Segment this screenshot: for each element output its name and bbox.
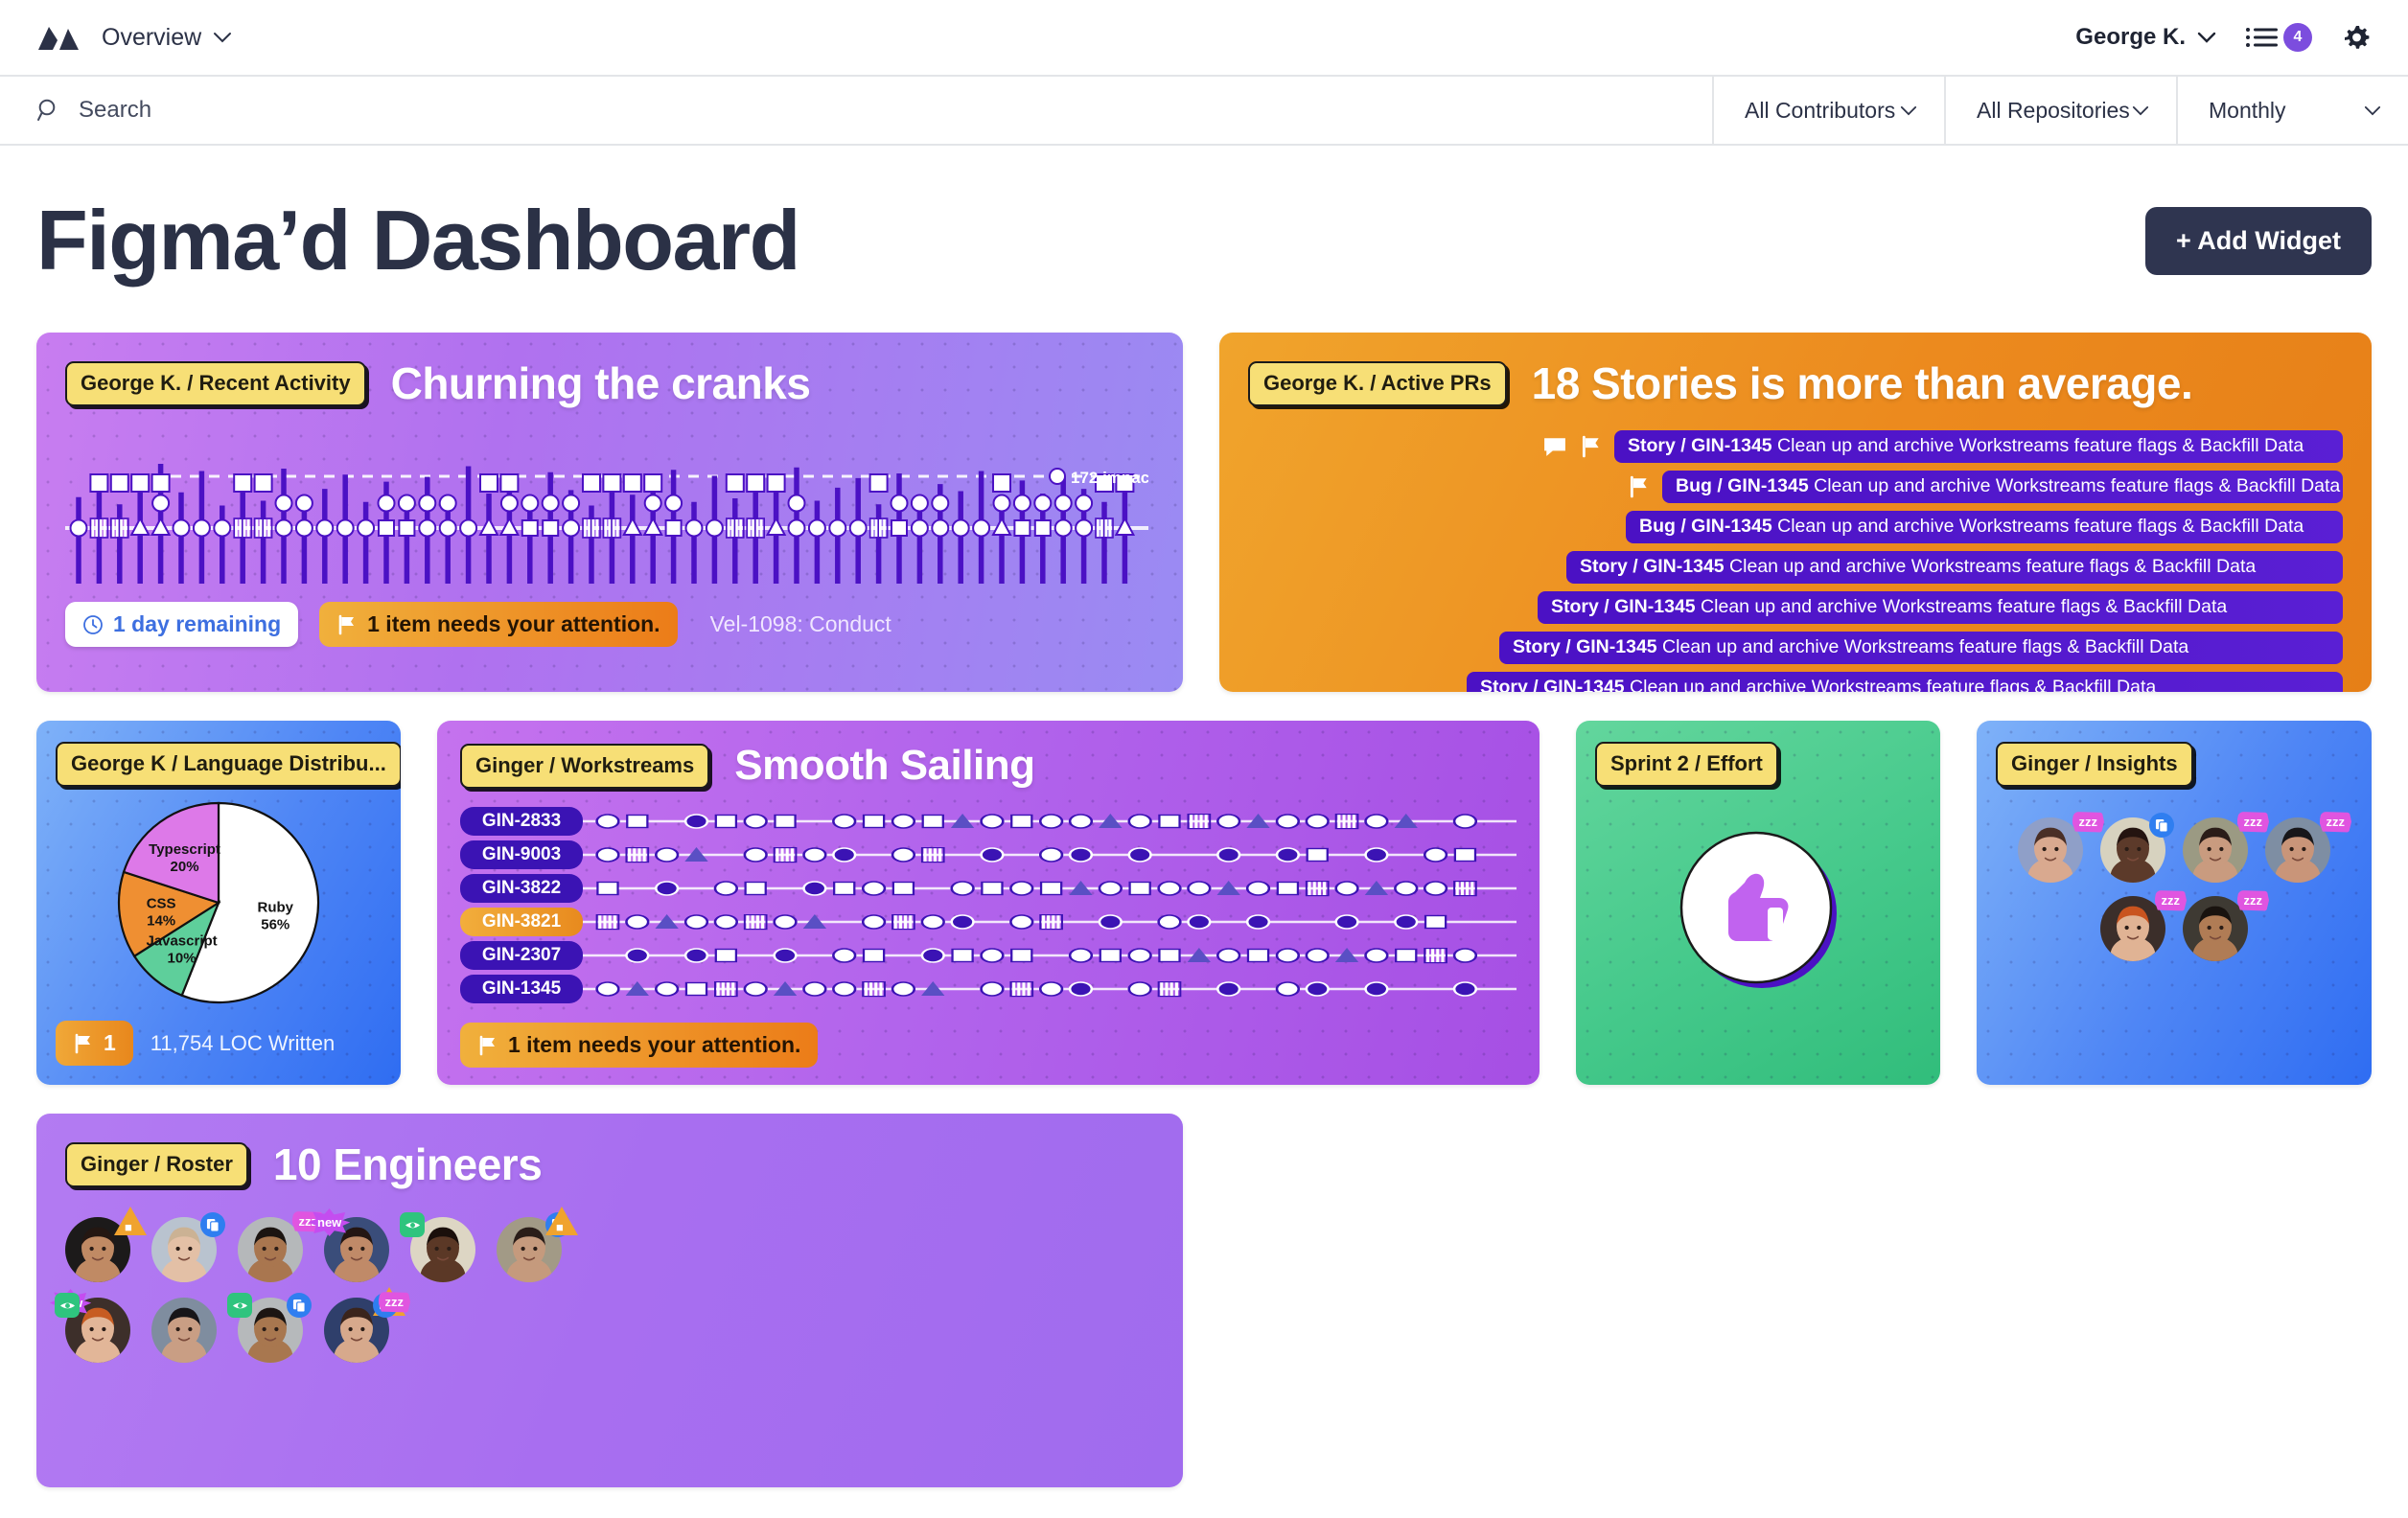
- search-input[interactable]: Search: [0, 77, 1712, 144]
- card-tag-sprint-effort[interactable]: Sprint 2 / Effort: [1595, 742, 1778, 787]
- avatar[interactable]: zzz: [2018, 817, 2083, 883]
- avatar[interactable]: zzz: [2100, 896, 2165, 961]
- card-tag-recent-activity[interactable]: George K. / Recent Activity: [65, 361, 366, 406]
- zzz-badge: zzz: [2155, 890, 2188, 911]
- pull-request-row[interactable]: Story / GIN-1345 Clean up and archive Wo…: [1248, 591, 2343, 624]
- svg-text:172 impact: 172 impact: [1071, 469, 1148, 487]
- avatar-image: [2100, 896, 2165, 961]
- activity-chart[interactable]: 172 impact: [65, 421, 1154, 588]
- loc-written-label: 11,754 LOC Written: [150, 1031, 335, 1056]
- chevron-down-icon: [1900, 105, 1917, 116]
- workstream-track: [583, 809, 1517, 834]
- filter-contributors[interactable]: All Contributors: [1712, 77, 1944, 144]
- avatar[interactable]: [2100, 817, 2165, 883]
- dashboard-row-1: George K. / Recent Activity Churning the…: [36, 333, 2372, 692]
- zzz-badge: zzz: [2320, 812, 2352, 833]
- svg-text:10%: 10%: [168, 950, 197, 966]
- card-recent-activity[interactable]: George K. / Recent Activity Churning the…: [36, 333, 1183, 692]
- roster-row: new ■zzz: [65, 1298, 1154, 1363]
- avatar-image: [238, 1217, 303, 1282]
- workstream-rows: GIN-2833 GIN-9003 GIN-3822 GIN-3821 GIN-…: [460, 809, 1517, 1001]
- pull-request-row[interactable]: Story / GIN-1345 Clean up and archive Wo…: [1248, 430, 2343, 463]
- workstream-markers: [583, 809, 1517, 834]
- pull-request-row[interactable]: Story / GIN-1345 Clean up and archive Wo…: [1248, 632, 2343, 664]
- chevron-down-icon: [2132, 105, 2149, 116]
- eye-icon[interactable]: [400, 1212, 425, 1237]
- flag-count-label: 1: [104, 1030, 116, 1056]
- card-sprint-effort[interactable]: Sprint 2 / Effort: [1576, 721, 1940, 1085]
- avatar[interactable]: [151, 1217, 217, 1282]
- pull-request-list: Story / GIN-1345 Clean up and archive Wo…: [1248, 430, 2343, 692]
- workstream-markers: [583, 909, 1517, 934]
- workstream-row[interactable]: GIN-1345: [460, 977, 1517, 1001]
- workstream-markers: [583, 943, 1517, 968]
- card-footer: 1 item needs your attention.: [460, 1023, 1517, 1068]
- card-footer: 1 11,754 LOC Written: [56, 1021, 382, 1066]
- activity-chart-svg: 172 impact: [65, 421, 1148, 588]
- card-tag-roster[interactable]: Ginger / Roster: [65, 1142, 248, 1187]
- language-pie-svg: Ruby56%Javascript10%CSS14%Typescript20%: [112, 796, 325, 1009]
- card-tag-language-distribution[interactable]: George K / Language Distribu...: [56, 742, 401, 787]
- pull-request-row[interactable]: Story / GIN-1345 Clean up and archive Wo…: [1248, 551, 2343, 584]
- attention-pill[interactable]: 1 item needs your attention.: [319, 602, 677, 647]
- pie-chart[interactable]: Ruby56%Javascript10%CSS14%Typescript20%: [56, 796, 382, 1009]
- chevron-down-icon: [2197, 32, 2216, 43]
- flag-icon: [477, 1035, 498, 1056]
- add-widget-button[interactable]: + Add Widget: [2145, 207, 2372, 275]
- pull-request-row[interactable]: Bug / GIN-1345 Clean up and archive Work…: [1248, 471, 2343, 503]
- card-headline-active-prs: 18 Stories is more than average.: [1532, 357, 2193, 409]
- card-tag-insights[interactable]: Ginger / Insights: [1996, 742, 2193, 787]
- attention-label: 1 item needs your attention.: [508, 1032, 800, 1058]
- filter-contributors-label: All Contributors: [1745, 98, 1895, 124]
- avatar[interactable]: [410, 1217, 475, 1282]
- zzz-badge: zzz: [2072, 812, 2105, 833]
- dashboard-row-2: George K / Language Distribu... Ruby56%J…: [36, 721, 2372, 1085]
- clock-icon: [82, 614, 104, 635]
- pull-request-bar[interactable]: Story / GIN-1345 Clean up and archive Wo…: [1614, 430, 2343, 463]
- pull-request-bar[interactable]: Story / GIN-1345 Clean up and archive Wo…: [1467, 672, 2343, 692]
- roster-avatar-grid: ■ zzz new ■: [65, 1217, 1154, 1363]
- workstream-markers: [583, 842, 1517, 867]
- avatar[interactable]: ■zzz: [324, 1298, 389, 1363]
- flag-icon: [1626, 475, 1653, 498]
- filter-repositories-label: All Repositories: [1977, 98, 2130, 124]
- flag-icon: [1578, 435, 1605, 458]
- filter-repositories[interactable]: All Repositories: [1944, 77, 2176, 144]
- svg-text:CSS: CSS: [147, 896, 176, 912]
- workstream-row[interactable]: GIN-2307: [460, 943, 1517, 968]
- card-workstreams[interactable]: Ginger / Workstreams Smooth Sailing GIN-…: [437, 721, 1540, 1085]
- flag-icon: [73, 1033, 94, 1054]
- workstream-markers: [583, 977, 1517, 1001]
- avatar[interactable]: zzz: [2183, 896, 2248, 961]
- card-headline-workstreams: Smooth Sailing: [734, 742, 1034, 790]
- filter-bar: Search All Contributors All Repositories…: [0, 77, 2408, 146]
- notifications-button[interactable]: 4: [2245, 23, 2312, 52]
- thumbs-up-icon: [1662, 814, 1854, 1005]
- list-icon: [2245, 25, 2278, 50]
- activity-reference: Vel-1098: Conduct: [710, 611, 891, 637]
- pull-request-bar[interactable]: Bug / GIN-1345 Clean up and archive Work…: [1626, 511, 2343, 543]
- page-title: Figma’d Dashboard: [36, 198, 799, 283]
- copy-icon[interactable]: [200, 1212, 225, 1237]
- pull-request-row[interactable]: Story / GIN-1345 Clean up and archive Wo…: [1248, 672, 2343, 692]
- flag-icon: [336, 614, 358, 635]
- pull-request-bar[interactable]: Story / GIN-1345 Clean up and archive Wo…: [1566, 551, 2343, 584]
- avatar-image: [2265, 817, 2330, 883]
- flag-count-pill[interactable]: 1: [56, 1021, 133, 1066]
- dashboard-grid: George K. / Recent Activity Churning the…: [0, 283, 2408, 1487]
- effort-gauge[interactable]: [1595, 814, 1921, 1005]
- filter-period-label: Monthly: [2209, 98, 2286, 124]
- comment-icon: [1541, 435, 1568, 458]
- user-name-label: George K.: [2075, 24, 2186, 51]
- workstream-label[interactable]: GIN-2833: [460, 807, 583, 836]
- time-remaining-pill[interactable]: 1 day remaining: [65, 602, 298, 647]
- card-roster[interactable]: Ginger / Roster 10 Engineers ■ zzz: [36, 1114, 1183, 1487]
- copy-icon[interactable]: [287, 1293, 312, 1318]
- avatar[interactable]: ■: [65, 1217, 130, 1282]
- card-header: Ginger / Workstreams Smooth Sailing: [460, 742, 1517, 790]
- avatar[interactable]: zzz: [2265, 817, 2330, 883]
- card-footer: 1 day remaining 1 item needs your attent…: [65, 602, 1154, 647]
- card-tag-workstreams[interactable]: Ginger / Workstreams: [460, 744, 709, 789]
- workstream-track: [583, 943, 1517, 968]
- workstream-track: [583, 977, 1517, 1001]
- zzz-badge: zzz: [2237, 812, 2270, 833]
- avatar[interactable]: zzz: [2183, 817, 2248, 883]
- avatar[interactable]: [151, 1298, 217, 1363]
- nav-overview-label: Overview: [102, 24, 201, 52]
- page-header: Figma’d Dashboard + Add Widget: [0, 146, 2408, 283]
- zzz-badge: zzz: [379, 1292, 411, 1313]
- card-language-distribution[interactable]: George K / Language Distribu... Ruby56%J…: [36, 721, 401, 1085]
- search-icon: [36, 98, 61, 123]
- workstream-label[interactable]: GIN-9003: [460, 840, 583, 869]
- workstream-row[interactable]: GIN-2833: [460, 809, 1517, 834]
- new-badge: new: [309, 1208, 350, 1236]
- eye-icon[interactable]: [55, 1293, 80, 1318]
- card-insights[interactable]: Ginger / Insights zzz zzz zzz: [1977, 721, 2372, 1085]
- workstream-markers: [583, 876, 1517, 901]
- time-remaining-label: 1 day remaining: [113, 611, 281, 637]
- card-headline-recent-activity: Churning the cranks: [391, 357, 811, 409]
- filter-period[interactable]: Monthly: [2176, 77, 2408, 144]
- svg-text:Typescript: Typescript: [149, 841, 220, 858]
- avatar-image: [151, 1298, 217, 1363]
- avatar[interactable]: ■: [497, 1217, 562, 1282]
- workstream-row[interactable]: GIN-9003: [460, 842, 1517, 867]
- workstream-label[interactable]: GIN-3821: [460, 908, 583, 936]
- eye-icon[interactable]: [227, 1293, 252, 1318]
- card-header: Ginger / Roster 10 Engineers: [65, 1138, 1154, 1190]
- flag-badge[interactable]: ■: [114, 1207, 147, 1235]
- insights-avatar-grid: zzz zzz zzz zzz zzz: [1996, 817, 2352, 961]
- chevron-down-icon: [213, 32, 232, 43]
- flag-badge[interactable]: ■: [545, 1207, 578, 1235]
- user-menu[interactable]: George K.: [2075, 24, 2216, 51]
- brand-block: Overview: [36, 21, 232, 54]
- svg-text:Ruby: Ruby: [258, 899, 294, 915]
- workstream-row[interactable]: GIN-3821: [460, 909, 1517, 934]
- pull-request-bar[interactable]: Story / GIN-1345 Clean up and archive Wo…: [1538, 591, 2343, 624]
- svg-text:20%: 20%: [171, 859, 199, 875]
- topbar-right-group: George K. 4: [2075, 22, 2372, 53]
- workstream-track: [583, 842, 1517, 867]
- gear-icon[interactable]: [2341, 22, 2372, 53]
- avatar[interactable]: new: [65, 1298, 130, 1363]
- chevron-down-icon: [2364, 105, 2381, 116]
- svg-text:56%: 56%: [261, 916, 289, 932]
- avatar[interactable]: [238, 1298, 303, 1363]
- svg-text:14%: 14%: [147, 913, 175, 930]
- pull-request-bar[interactable]: Story / GIN-1345 Clean up and archive Wo…: [1499, 632, 2343, 664]
- card-active-prs[interactable]: George K. / Active PRs 18 Stories is mor…: [1219, 333, 2372, 692]
- avatar[interactable]: new: [324, 1217, 389, 1282]
- dashboard-row-3: Ginger / Roster 10 Engineers ■ zzz: [36, 1114, 2372, 1487]
- card-header: George K. / Recent Activity Churning the…: [65, 357, 1154, 409]
- copy-icon[interactable]: [2149, 813, 2174, 838]
- roster-row: ■ zzz new ■: [65, 1217, 1154, 1282]
- card-headline-roster: 10 Engineers: [273, 1138, 542, 1190]
- workstream-track: [583, 909, 1517, 934]
- workstream-label[interactable]: GIN-2307: [460, 941, 583, 970]
- attention-pill[interactable]: 1 item needs your attention.: [460, 1023, 818, 1068]
- pull-request-row[interactable]: Bug / GIN-1345 Clean up and archive Work…: [1248, 511, 2343, 543]
- avatar-image: [2018, 817, 2083, 883]
- nav-overview-dropdown[interactable]: Overview: [102, 24, 232, 52]
- avatar-image: [2183, 817, 2248, 883]
- top-navigation-bar: Overview George K. 4: [0, 0, 2408, 77]
- zzz-badge: zzz: [2237, 890, 2270, 911]
- search-placeholder: Search: [79, 97, 151, 124]
- svg-text:Javascript: Javascript: [146, 932, 217, 949]
- notification-count-badge: 4: [2283, 23, 2312, 52]
- attention-label: 1 item needs your attention.: [367, 611, 660, 637]
- card-tag-active-prs[interactable]: George K. / Active PRs: [1248, 361, 1507, 406]
- pull-request-bar[interactable]: Bug / GIN-1345 Clean up and archive Work…: [1662, 471, 2343, 503]
- avatar-image: [2183, 896, 2248, 961]
- avatar[interactable]: zzz: [238, 1217, 303, 1282]
- mountain-logo-icon[interactable]: [36, 21, 81, 54]
- workstream-label[interactable]: GIN-1345: [460, 975, 583, 1003]
- card-header: George K. / Active PRs 18 Stories is mor…: [1248, 357, 2343, 409]
- workstream-label[interactable]: GIN-3822: [460, 874, 583, 903]
- workstream-row[interactable]: GIN-3822: [460, 876, 1517, 901]
- workstream-track: [583, 876, 1517, 901]
